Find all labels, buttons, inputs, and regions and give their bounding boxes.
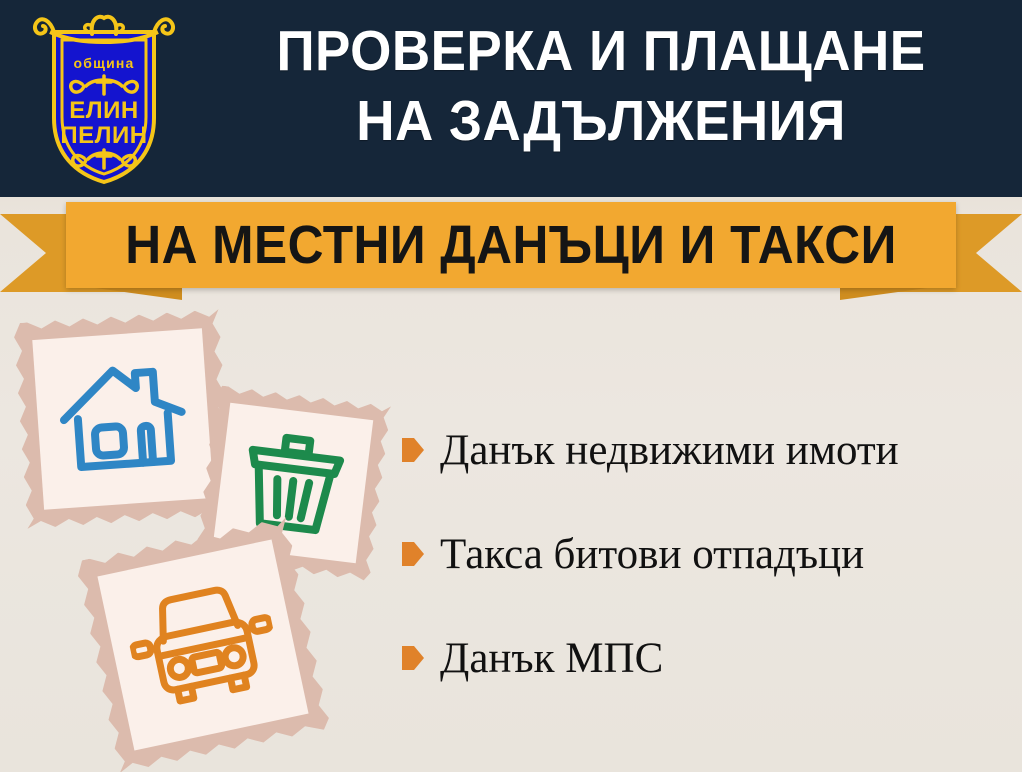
list-item: Данък МПС	[402, 632, 1012, 684]
list-item: Такса битови отпадъци	[402, 528, 1012, 580]
stamp-card-vehicle	[75, 517, 331, 772]
house-icon	[54, 356, 192, 483]
ribbon-label: НА МЕСТНИ ДАНЪЦИ И ТАКСИ	[102, 202, 921, 288]
bullet-arrow-icon	[402, 438, 424, 462]
page-title-line2: НА ЗАДЪЛЖЕНИЯ	[223, 86, 978, 156]
poster-root: ПРОВЕРКА И ПЛАЩАНЕ НА ЗАДЪЛЖЕНИЯ община	[0, 0, 1022, 772]
list-item-label: Такса битови отпадъци	[440, 533, 864, 576]
svg-text:ЕЛИН: ЕЛИН	[69, 97, 138, 124]
page-title: ПРОВЕРКА И ПЛАЩАНЕ НА ЗАДЪЛЖЕНИЯ	[223, 16, 978, 156]
svg-text:община: община	[73, 55, 134, 71]
bullet-arrow-icon	[402, 646, 424, 670]
ribbon-banner: НА МЕСТНИ ДАНЪЦИ И ТАКСИ	[0, 196, 1022, 308]
municipality-logo: община ЕЛИН ПЕЛИН	[24, 6, 184, 188]
stamp-card-property	[13, 309, 233, 529]
svg-text:ПЕЛИН: ПЕЛИН	[60, 122, 147, 149]
list-item-label: Данък МПС	[440, 637, 663, 680]
bullet-arrow-icon	[402, 542, 424, 566]
list-item: Данък недвижими имоти	[402, 424, 1012, 476]
tax-type-list: Данък недвижими имоти Такса битови отпад…	[402, 424, 1012, 684]
list-item-label: Данък недвижими имоти	[440, 429, 899, 472]
coat-of-arms-icon: община ЕЛИН ПЕЛИН	[24, 6, 184, 188]
page-title-line1: ПРОВЕРКА И ПЛАЩАНЕ	[276, 19, 925, 83]
